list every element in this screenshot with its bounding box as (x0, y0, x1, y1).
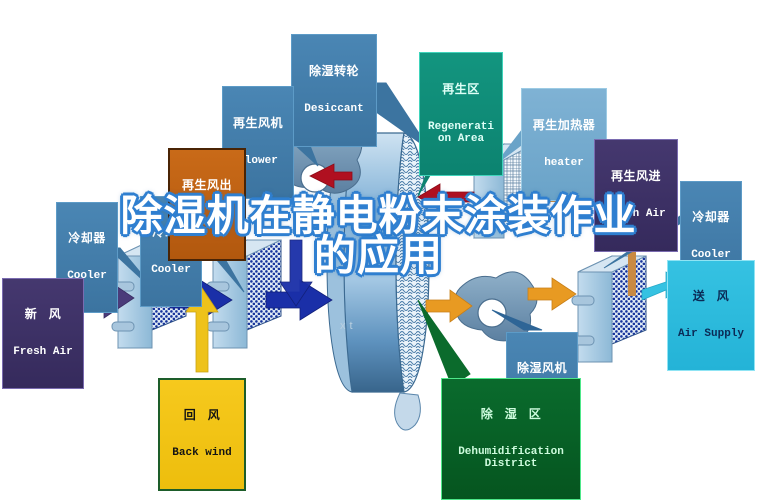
label-fresh-air-en: Fresh Air (5, 347, 81, 359)
label-cooler-left-2-en: Cooler (143, 265, 199, 277)
label-regeneration-heater-en: heater (524, 158, 604, 170)
label-cooler-left-1-cn: 冷却器 (59, 232, 115, 245)
label-regeneration-fresh-air-en: Fresh Air (597, 209, 675, 221)
label-air-supply: 送 风 Air Supply (667, 260, 755, 371)
label-cooler-right-cn: 冷却器 (683, 211, 739, 224)
label-regeneration-area-cn: 再生区 (422, 83, 500, 96)
label-air-supply-cn: 送 风 (670, 290, 752, 303)
label-desiccant: 除湿转轮 Desiccant (291, 34, 377, 147)
label-back-wind: 回 风 Back wind (158, 378, 246, 491)
label-regeneration-area: 再生区 Regenerati on Area (419, 52, 503, 176)
label-dehumidification-district: 除 湿 区 Dehumidification District (441, 378, 581, 500)
label-back-wind-en: Back wind (162, 448, 242, 460)
label-regeneration-fresh-air: 再生风进 Fresh Air (594, 139, 678, 252)
dehumidifier-diagram: xt 除湿转轮 Desiccant 再生风机 Blower 再生区 Regene… (0, 0, 757, 488)
label-fresh-air-cn: 新 风 (5, 308, 81, 321)
label-air-supply-en: Air Supply (670, 329, 752, 341)
label-regeneration-area-en: Regenerati on Area (422, 122, 500, 146)
label-desiccant-cn: 除湿转轮 (294, 65, 374, 78)
label-regeneration-fresh-air-cn: 再生风进 (597, 170, 675, 183)
label-dehumidification-district-cn: 除 湿 区 (444, 408, 578, 421)
label-dehumidification-blower-cn: 除湿风机 (509, 362, 575, 375)
label-desiccant-en: Desiccant (294, 104, 374, 116)
label-regeneration-heater-cn: 再生加热器 (524, 119, 604, 132)
label-exhaust: 再生风出 Exhaust (168, 148, 246, 261)
label-exhaust-en: Exhaust (172, 218, 242, 230)
label-regeneration-blower-cn: 再生风机 (225, 117, 291, 130)
label-dehumidification-district-en: Dehumidification District (444, 447, 578, 471)
watermark: xt (340, 320, 357, 332)
label-fresh-air: 新 风 Fresh Air (2, 278, 84, 389)
label-back-wind-cn: 回 风 (162, 409, 242, 422)
label-exhaust-cn: 再生风出 (172, 179, 242, 192)
